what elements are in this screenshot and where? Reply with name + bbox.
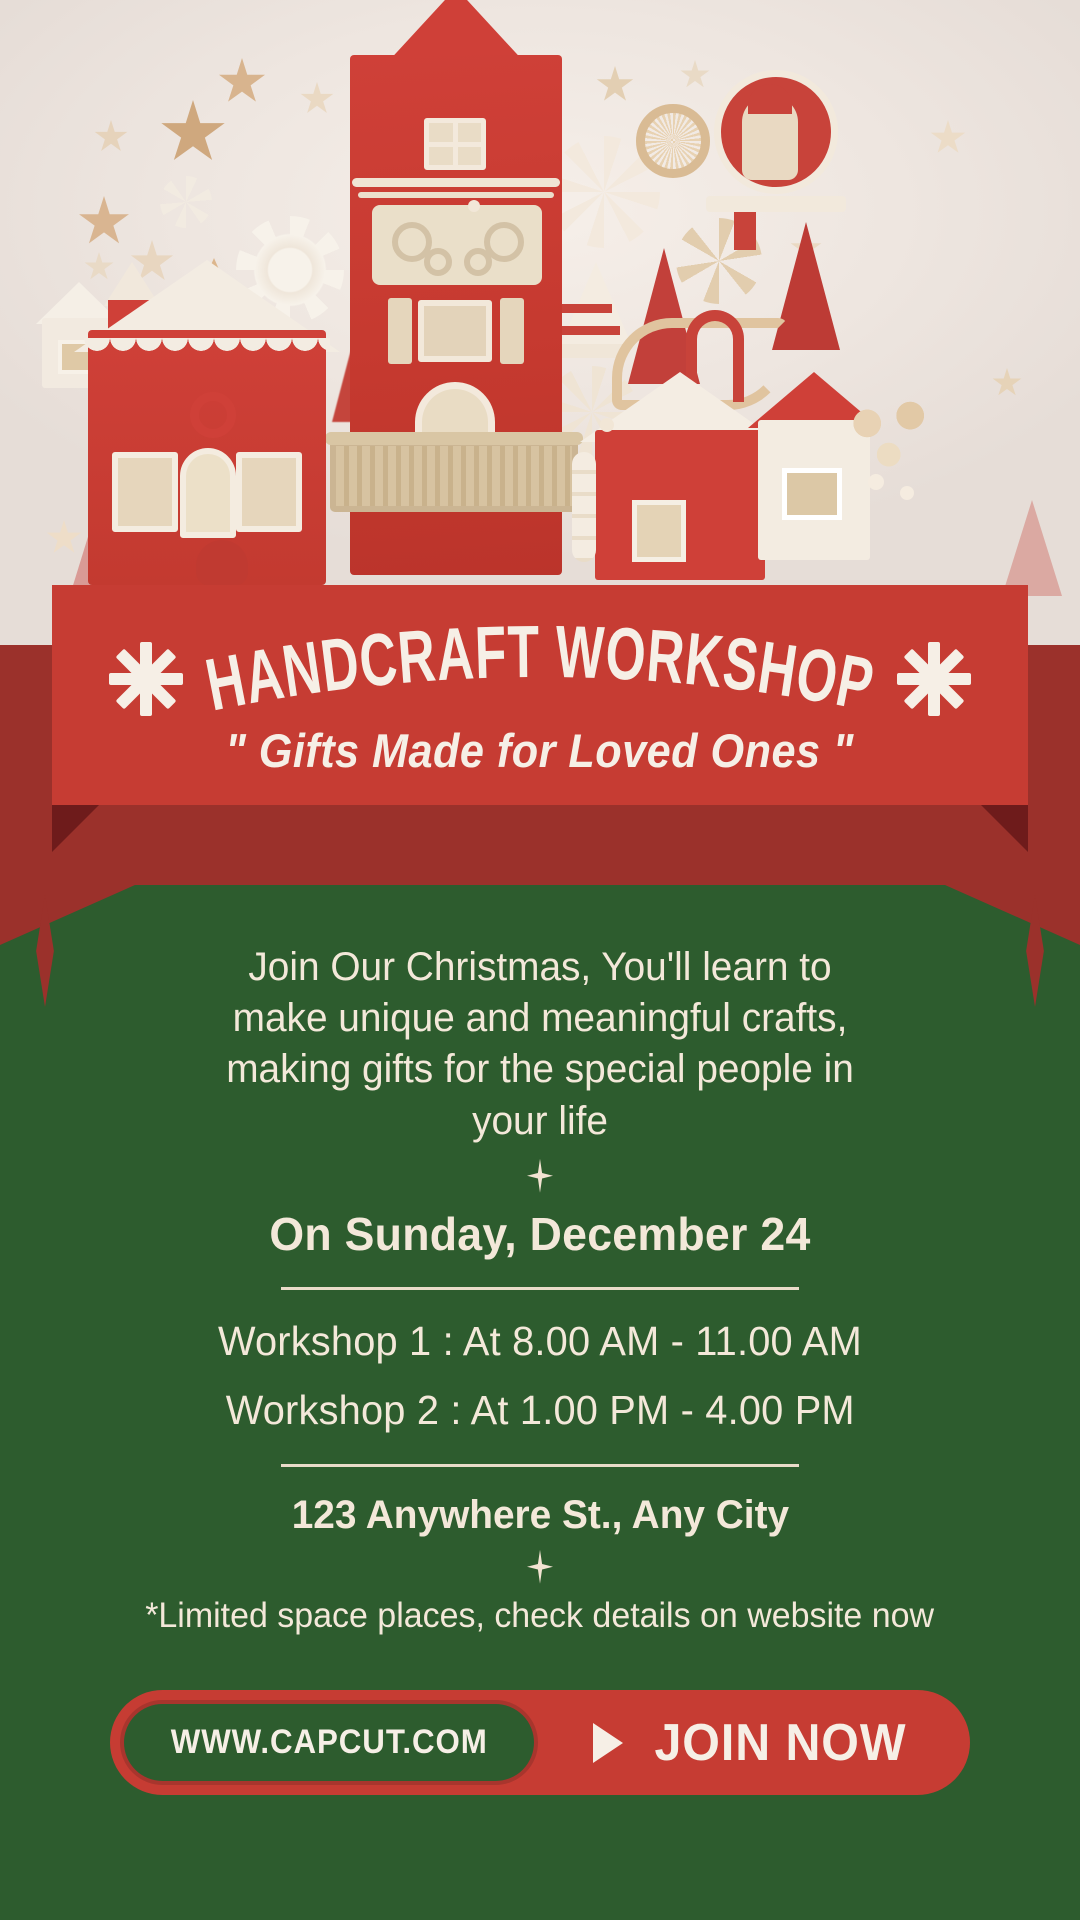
- santa-shelf: [706, 196, 846, 212]
- website-button[interactable]: WWW.CAPCUT.COM: [120, 1700, 538, 1785]
- play-triangle-icon: [593, 1723, 623, 1763]
- santa-shelf-bracket: [734, 212, 756, 250]
- star-icon: [160, 100, 226, 166]
- banner-subtitle: " Gifts Made for Loved Ones ": [226, 723, 855, 778]
- star-icon: [218, 58, 266, 106]
- join-now-label: JOIN NOW: [654, 1713, 906, 1773]
- berry-dot: [900, 486, 914, 500]
- left-house-window: [112, 452, 178, 532]
- left-house-arch-window: [180, 448, 236, 538]
- garland-icon: [572, 452, 596, 562]
- cta-bar[interactable]: WWW.CAPCUT.COM JOIN NOW: [110, 1690, 970, 1795]
- doily-icon: [636, 104, 710, 178]
- page-title: HANDCRAFT WORKSHOP: [199, 609, 880, 726]
- star-icon: [596, 66, 634, 104]
- schedule-row: Workshop 2 : At 1.00 PM - 4.00 PM: [225, 1387, 854, 1434]
- roof-trim: [358, 192, 554, 198]
- join-now-button[interactable]: JOIN NOW: [538, 1713, 970, 1773]
- roof-trim: [352, 178, 560, 187]
- berry-dot: [600, 418, 614, 432]
- scroll-curl-icon: [464, 248, 492, 276]
- website-url-label: WWW.CAPCUT.COM: [171, 1723, 488, 1762]
- divider-rule-top: [281, 1287, 799, 1290]
- balcony-rail: [325, 432, 583, 445]
- divider-rule-bottom: [281, 1464, 799, 1467]
- event-date: On Sunday, December 24: [269, 1207, 810, 1261]
- balcony-slats: [330, 440, 578, 512]
- star-icon: [300, 82, 334, 116]
- four-point-star-icon: [527, 1550, 553, 1584]
- schedule-row: Workshop 1 : At 8.00 AM - 11.00 AM: [218, 1318, 862, 1365]
- limited-space-note: *Limited space places, check details on …: [146, 1596, 935, 1636]
- wreath-icon: [190, 392, 236, 438]
- star-icon: [78, 196, 130, 248]
- title-banner: HANDCRAFT WORKSHOP " Gifts Made for Love…: [52, 585, 1028, 805]
- star-icon: [680, 60, 710, 90]
- mistletoe-icon: [850, 400, 936, 478]
- description-text: Join Our Christmas, You'll learn to make…: [201, 942, 880, 1147]
- main-house-window: [418, 300, 492, 362]
- poster-root: HANDCRAFT WORKSHOP " Gifts Made for Love…: [0, 0, 1080, 1920]
- svg-text:HANDCRAFT WORKSHOP: HANDCRAFT WORKSHOP: [199, 609, 880, 726]
- attic-window: [424, 118, 486, 170]
- berry-dot: [468, 200, 480, 212]
- lace-trim: [84, 338, 330, 366]
- title-row: HANDCRAFT WORKSHOP: [52, 613, 1028, 721]
- snowflake-icon: [160, 176, 212, 228]
- right-house-window: [632, 500, 686, 562]
- venue-address: 123 Anywhere St., Any City: [291, 1493, 788, 1538]
- right-house2-window: [782, 468, 842, 520]
- schedule-list: Workshop 1 : At 8.00 AM - 11.00 AM Works…: [208, 1318, 872, 1434]
- window-shutter: [388, 298, 412, 364]
- four-point-star-icon: [527, 1159, 553, 1193]
- star-icon: [94, 120, 128, 154]
- star-icon: [992, 368, 1022, 398]
- bottle-brush-tree-icon: [1002, 500, 1062, 596]
- star-icon: [930, 120, 966, 156]
- scroll-curl-icon: [424, 248, 452, 276]
- cone-stripe: [556, 304, 612, 313]
- bow-icon: [196, 540, 248, 586]
- banner-title-arc: HANDCRAFT WORKSHOP: [52, 613, 1028, 725]
- left-house-window: [236, 452, 302, 532]
- window-shutter: [500, 298, 524, 364]
